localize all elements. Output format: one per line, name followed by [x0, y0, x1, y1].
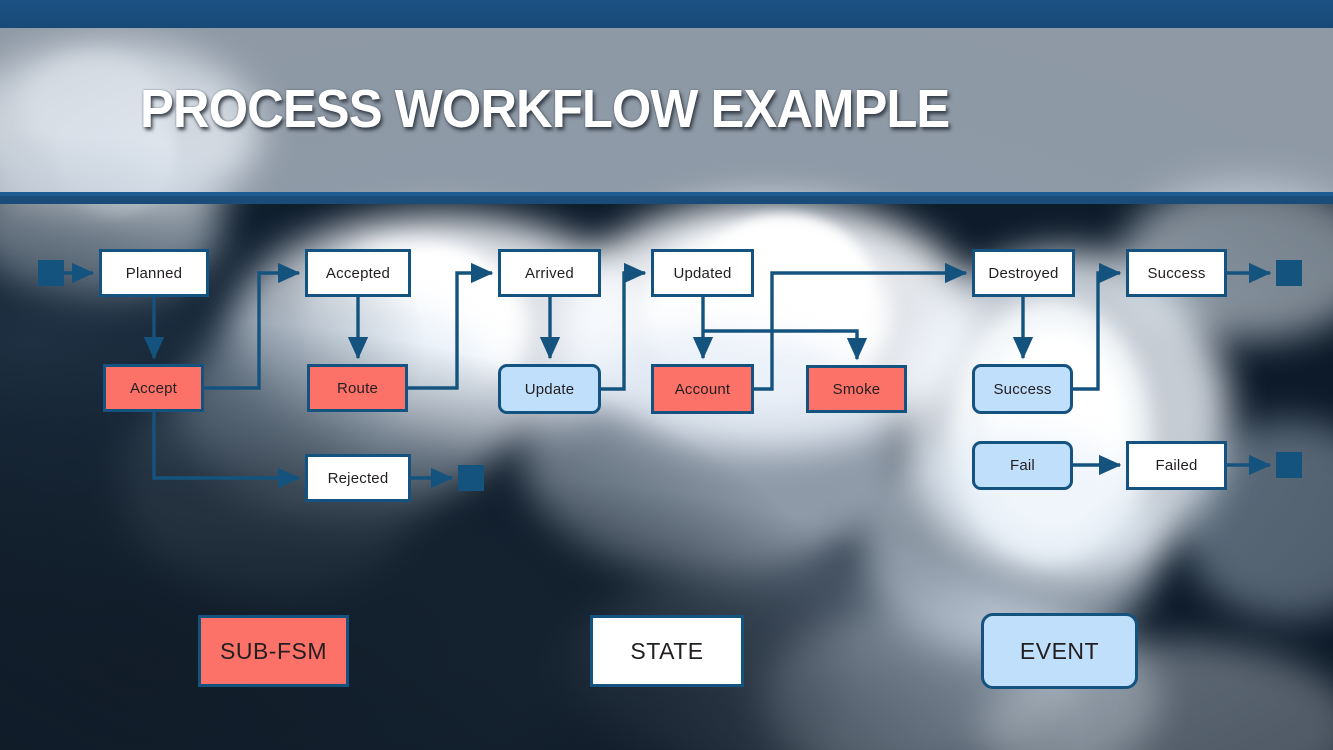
node-success-event[interactable]: Success [972, 364, 1073, 414]
node-label: Route [337, 380, 378, 397]
node-update[interactable]: Update [498, 364, 601, 414]
node-planned[interactable]: Planned [99, 249, 209, 297]
node-label: Failed [1155, 457, 1197, 474]
legend-label: EVENT [1020, 638, 1099, 665]
success-end-terminal[interactable] [1276, 260, 1302, 286]
edge-update-to-updated [601, 273, 645, 389]
node-fail-event[interactable]: Fail [972, 441, 1073, 490]
edge-accept-to-accepted [204, 273, 299, 388]
node-label: Account [675, 381, 731, 398]
node-route[interactable]: Route [307, 364, 408, 412]
node-success-state[interactable]: Success [1126, 249, 1227, 297]
node-smoke[interactable]: Smoke [806, 365, 907, 413]
node-label: Accepted [326, 265, 390, 282]
edge-updated-to-smoke [703, 331, 857, 359]
start-terminal[interactable] [38, 260, 64, 286]
legend-label: SUB-FSM [220, 638, 327, 665]
node-label: Smoke [833, 381, 881, 398]
node-account[interactable]: Account [651, 364, 754, 414]
node-label: Planned [126, 265, 182, 282]
edge-accept-to-rejected [154, 412, 299, 478]
node-label: Destroyed [988, 265, 1058, 282]
legend-item-state[interactable]: STATE [590, 615, 744, 687]
node-label: Fail [1010, 457, 1035, 474]
edge-success-event-to-success-state [1073, 273, 1120, 389]
node-failed-state[interactable]: Failed [1126, 441, 1227, 490]
node-label: Accept [130, 380, 177, 397]
node-label: Arrived [525, 265, 574, 282]
rejected-end-terminal[interactable] [458, 465, 484, 491]
node-arrived[interactable]: Arrived [498, 249, 601, 297]
node-accept[interactable]: Accept [103, 364, 204, 412]
failed-end-terminal[interactable] [1276, 452, 1302, 478]
node-label: Success [1147, 265, 1205, 282]
node-label: Updated [673, 265, 731, 282]
node-updated[interactable]: Updated [651, 249, 754, 297]
node-label: Success [993, 381, 1051, 398]
node-label: Update [525, 381, 575, 398]
node-accepted[interactable]: Accepted [305, 249, 411, 297]
node-label: Rejected [328, 470, 389, 487]
edge-route-to-arrived [408, 273, 492, 388]
legend-item-event[interactable]: EVENT [981, 613, 1138, 689]
node-rejected[interactable]: Rejected [305, 454, 411, 502]
slide-canvas: PROCESS WORKFLOW EXAMPLE [0, 0, 1333, 750]
legend-item-sub-fsm[interactable]: SUB-FSM [198, 615, 349, 687]
legend-label: STATE [630, 638, 703, 665]
node-destroyed[interactable]: Destroyed [972, 249, 1075, 297]
